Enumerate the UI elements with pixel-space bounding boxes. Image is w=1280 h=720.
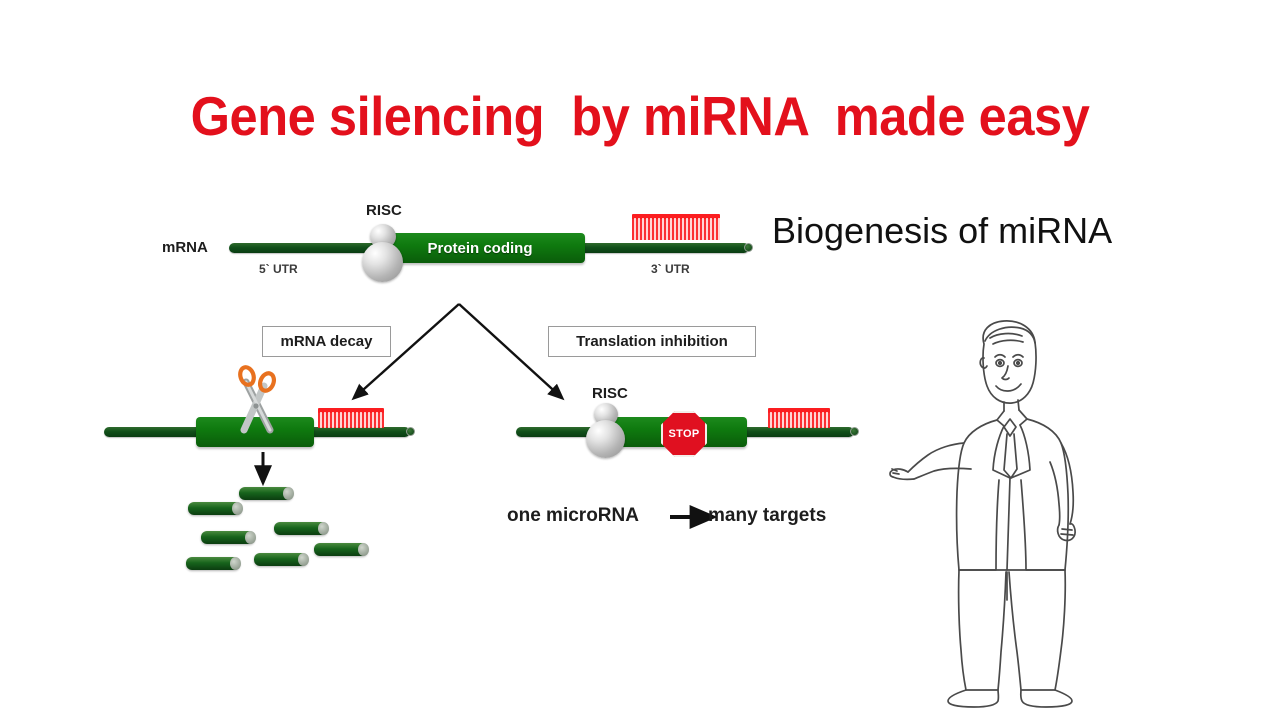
right-eyebrow (1013, 355, 1023, 357)
trouser-left-outer (959, 570, 966, 690)
tie-body (1004, 434, 1017, 478)
trouser-right-inner (1009, 572, 1021, 690)
nose (1002, 366, 1009, 380)
slide-canvas: Gene silencing by miRNA made easy Biogen… (0, 0, 1280, 720)
fist-knuckle-2 (1061, 534, 1073, 535)
collar-right (1019, 410, 1027, 425)
extended-arm-lower (914, 468, 971, 479)
presenter-illustration (0, 0, 1280, 720)
right-pupil (1017, 362, 1020, 365)
left-shoe (948, 690, 998, 707)
trouser-right-outer (1055, 570, 1065, 690)
jacket-right-panel (1021, 419, 1068, 570)
jacket-front-seam (1007, 478, 1010, 570)
right-hand-fist (1058, 524, 1076, 541)
right-shoe (1021, 690, 1072, 707)
lapel-right (1011, 425, 1030, 478)
hair-strand-2 (993, 340, 1023, 344)
presenting-hand-bottom (893, 477, 914, 479)
neck-right (1018, 400, 1019, 410)
smile (996, 384, 1021, 391)
fist-knuckle-1 (1062, 529, 1072, 530)
left-pupil (999, 362, 1002, 365)
right-arm-inner (1050, 462, 1060, 525)
finger-2 (893, 473, 899, 474)
left-eyebrow (995, 355, 1005, 357)
trouser-left-inner (998, 572, 1006, 690)
collar-left (997, 411, 1004, 426)
hair-strand-1 (990, 334, 1022, 338)
